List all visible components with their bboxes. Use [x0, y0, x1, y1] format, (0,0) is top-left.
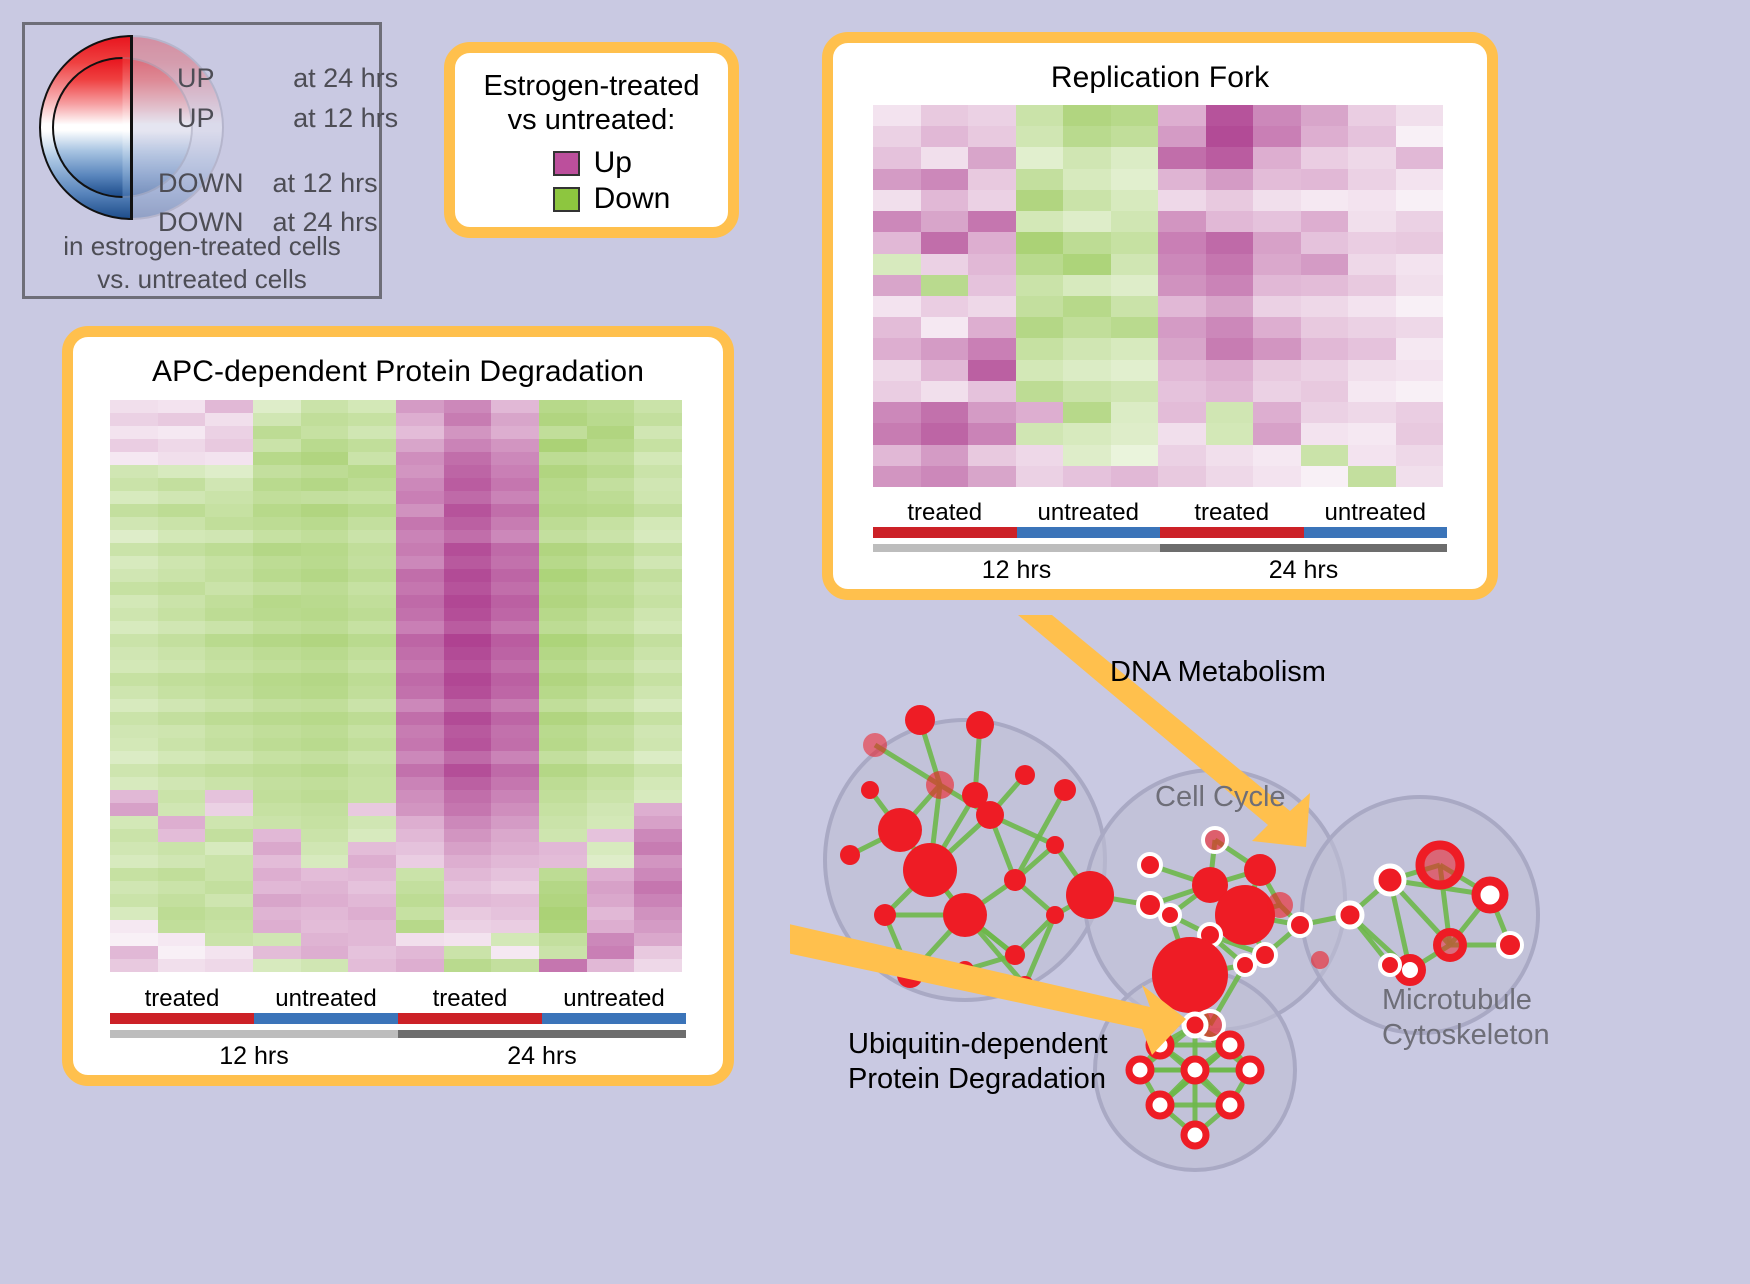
label-microtubule-cytoskeleton: Microtubule Cytoskeleton — [1382, 983, 1550, 1053]
group-label: untreated — [1304, 499, 1448, 527]
legend-dir-label: DOWN — [158, 168, 243, 198]
apc-title: APC-dependent Protein Degradation — [73, 355, 723, 389]
replication-fork-title: Replication Fork — [833, 61, 1487, 95]
label-cell-cycle: Cell Cycle — [1155, 780, 1286, 815]
time-label: 12 hrs — [110, 1042, 398, 1071]
legend-item-down: Down — [553, 182, 671, 216]
time-bar — [873, 544, 1160, 552]
down-color-swatch — [553, 187, 580, 212]
legend-row-up-24: UP at 24 hrs — [177, 63, 398, 94]
legend-caption-line2: vs. untreated cells — [25, 263, 379, 296]
group-label: untreated — [542, 985, 686, 1013]
apc-panel: APC-dependent Protein Degradation treate… — [62, 326, 734, 1086]
group-bar — [1304, 527, 1448, 538]
time-bar — [398, 1030, 686, 1038]
legend-time-label: at 12 hrs — [293, 103, 398, 133]
apc-heatmap — [110, 400, 682, 972]
legend-time-label: at 12 hrs — [273, 168, 378, 198]
label-ubiquitin-protein-degradation: Ubiquitin-dependent Protein Degradation — [848, 1027, 1108, 1097]
time-color-bars — [873, 544, 1447, 552]
legend-dir-label: UP — [177, 103, 214, 133]
group-bar — [542, 1013, 686, 1024]
time-label: 24 hrs — [398, 1042, 686, 1071]
network-diagram: DNA Metabolism Cell Cycle Microtubule Cy… — [790, 615, 1750, 1279]
group-bar — [1160, 527, 1304, 538]
replication-fork-axis: treateduntreatedtreateduntreated 12 hrs2… — [833, 499, 1487, 585]
label-dna-metabolism: DNA Metabolism — [1110, 655, 1326, 690]
group-label: untreated — [254, 985, 398, 1013]
colorscale-legend-box: UP at 24 hrs UP at 12 hrs DOWN at 12 hrs… — [22, 22, 382, 299]
replication-fork-panel: Replication Fork treateduntreatedtreated… — [822, 32, 1498, 600]
time-label: 24 hrs — [1160, 556, 1447, 585]
up-color-swatch — [553, 151, 580, 176]
time-color-bars — [110, 1030, 686, 1038]
legend-dir-label: UP — [177, 63, 214, 93]
up-down-legend-card: Estrogen-treated vs untreated: Up Down — [444, 42, 739, 238]
group-bar — [873, 527, 1017, 538]
legend-caption: in estrogen-treated cells vs. untreated … — [25, 230, 379, 297]
up-label: Up — [594, 146, 632, 180]
group-color-bars — [110, 1013, 686, 1024]
group-bar — [254, 1013, 398, 1024]
down-label: Down — [594, 182, 671, 216]
group-bar — [398, 1013, 542, 1024]
time-label: 12 hrs — [873, 556, 1160, 585]
updown-head-line1: Estrogen-treated — [455, 69, 728, 103]
time-labels: 12 hrs24 hrs — [873, 556, 1447, 585]
network-svg — [790, 615, 1750, 1279]
group-bar — [110, 1013, 254, 1024]
group-label: treated — [398, 985, 542, 1013]
group-label: treated — [873, 499, 1017, 527]
time-bar — [1160, 544, 1447, 552]
group-label: treated — [1160, 499, 1304, 527]
group-bar — [1017, 527, 1161, 538]
group-label: treated — [110, 985, 254, 1013]
group-label: untreated — [1017, 499, 1161, 527]
legend-item-up: Up — [553, 146, 671, 180]
group-color-bars — [873, 527, 1447, 538]
group-labels: treateduntreatedtreateduntreated — [873, 499, 1447, 527]
apc-axis: treateduntreatedtreateduntreated 12 hrs2… — [73, 985, 723, 1071]
legend-time-label: at 24 hrs — [293, 63, 398, 93]
legend-row-down-12: DOWN at 12 hrs — [158, 168, 378, 199]
group-labels: treateduntreatedtreateduntreated — [110, 985, 686, 1013]
updown-head-line2: vs untreated: — [455, 103, 728, 137]
replication-fork-heatmap — [873, 105, 1443, 487]
time-labels: 12 hrs24 hrs — [110, 1042, 686, 1071]
ring-divider — [130, 35, 133, 220]
time-bar — [110, 1030, 398, 1038]
legend-row-up-12: UP at 12 hrs — [177, 103, 398, 134]
legend-caption-line1: in estrogen-treated cells — [25, 230, 379, 263]
